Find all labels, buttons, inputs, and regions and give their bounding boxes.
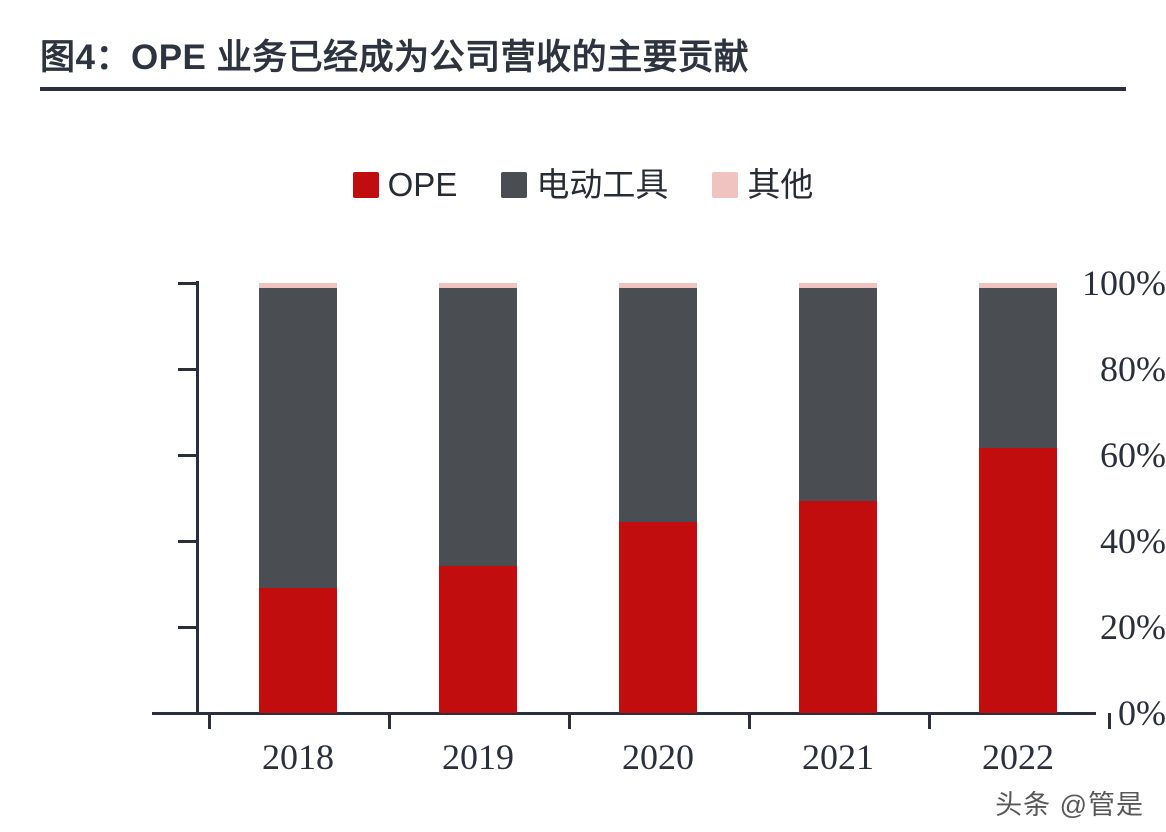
- bar-segment-power-tools-2018[interactable]: [259, 288, 337, 588]
- y-axis-tick: [178, 540, 196, 543]
- x-axis-tick: [568, 713, 571, 729]
- x-axis-tick: [1108, 713, 1111, 729]
- y-axis-tick: [178, 712, 196, 715]
- y-axis-tick: [178, 454, 196, 457]
- x-axis-tick: [388, 713, 391, 729]
- x-axis-tick-label: 2018: [218, 736, 378, 778]
- bar-segment-power-tools-2019[interactable]: [439, 288, 517, 566]
- x-axis-tick-label: 2021: [758, 736, 918, 778]
- y-axis-tick: [178, 368, 196, 371]
- bar-segment-power-tools-2022[interactable]: [979, 288, 1057, 448]
- y-axis-tick: [178, 626, 196, 629]
- x-axis-tick: [208, 713, 211, 729]
- bar-segment-power-tools-2021[interactable]: [799, 288, 877, 501]
- bar-segment-power-tools-2020[interactable]: [619, 288, 697, 522]
- bar-2020[interactable]: [619, 283, 697, 713]
- x-axis-tick-label: 2019: [398, 736, 558, 778]
- bar-segment-ope-2021[interactable]: [799, 501, 877, 713]
- bar-segment-ope-2019[interactable]: [439, 566, 517, 713]
- watermark: 头条 @管是: [995, 783, 1144, 822]
- bar-segment-ope-2022[interactable]: [979, 448, 1057, 713]
- x-axis-tick: [748, 713, 751, 729]
- y-axis-line: [196, 281, 199, 715]
- x-axis-tick: [928, 713, 931, 729]
- bar-2019[interactable]: [439, 283, 517, 713]
- x-axis-tick-label: 2020: [578, 736, 738, 778]
- y-axis-tick: [178, 282, 196, 285]
- bar-segment-ope-2020[interactable]: [619, 522, 697, 713]
- bar-2021[interactable]: [799, 283, 877, 713]
- bar-2022[interactable]: [979, 283, 1057, 713]
- bar-segment-ope-2018[interactable]: [259, 588, 337, 713]
- x-axis-tick-label: 2022: [938, 736, 1098, 778]
- bar-2018[interactable]: [259, 283, 337, 713]
- chart-plot-area: 0%20%40%60%80%100% 20182019202020212022: [0, 0, 1166, 832]
